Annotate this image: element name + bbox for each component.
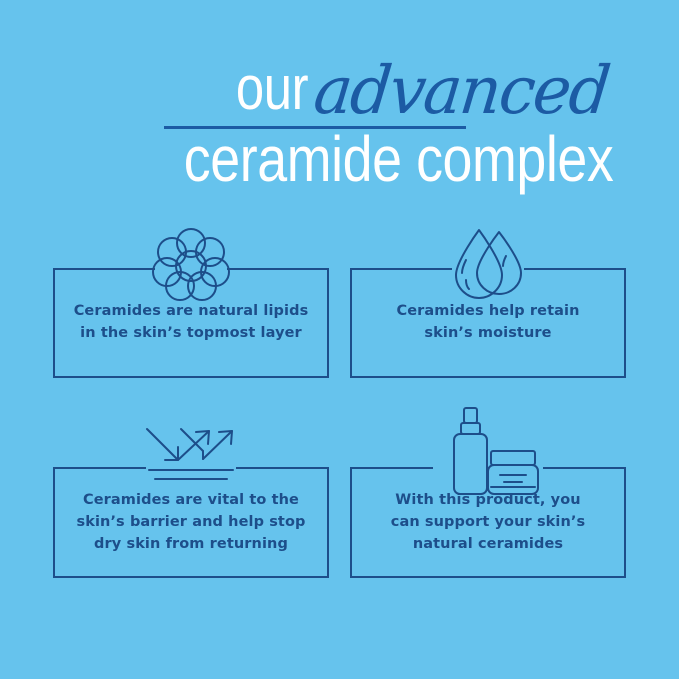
title-word-our: our bbox=[236, 53, 308, 124]
card-top-notch bbox=[146, 466, 236, 472]
fact-card-text: Ceramides are natural lipids in the skin… bbox=[55, 300, 327, 344]
fact-line: natural ceramides bbox=[352, 533, 624, 555]
fact-card-moisture: Ceramides help retain skin’s moisture bbox=[350, 268, 626, 378]
fact-card-text: Ceramides help retain skin’s moisture bbox=[352, 300, 624, 344]
fact-line: skin’s moisture bbox=[352, 322, 624, 344]
fact-card-product: With this product, you can support your … bbox=[350, 467, 626, 578]
fact-line: dry skin from returning bbox=[55, 533, 327, 555]
page-title: ouradvanced ceramide complex bbox=[0, 48, 679, 208]
fact-card-barrier: Ceramides are vital to the skin’s barrie… bbox=[53, 467, 329, 578]
fact-line: skin’s barrier and help stop bbox=[55, 511, 327, 533]
card-top-notch bbox=[155, 267, 227, 273]
fact-line: With this product, you bbox=[352, 489, 624, 511]
fact-line: Ceramides are vital to the bbox=[55, 489, 327, 511]
title-line-1: ouradvanced bbox=[0, 48, 613, 125]
barrier-deflect-arrows-icon bbox=[137, 419, 245, 496]
title-word-advanced-script: advanced bbox=[310, 52, 612, 129]
fact-line: Ceramides help retain bbox=[352, 300, 624, 322]
fact-card-text: With this product, you can support your … bbox=[352, 489, 624, 555]
ceramide-infographic-poster: ouradvanced ceramide complex Ceramides a… bbox=[0, 0, 679, 679]
card-top-notch bbox=[433, 466, 543, 472]
fact-line: in the skin’s topmost layer bbox=[55, 322, 327, 344]
fact-line: can support your skin’s bbox=[352, 511, 624, 533]
fact-card-text: Ceramides are vital to the skin’s barrie… bbox=[55, 489, 327, 555]
title-line-2: ceramide complex bbox=[0, 122, 613, 196]
fact-line: Ceramides are natural lipids bbox=[55, 300, 327, 322]
card-top-notch bbox=[452, 267, 524, 273]
fact-card-lipids: Ceramides are natural lipids in the skin… bbox=[53, 268, 329, 378]
title-word-ceramide-complex: ceramide complex bbox=[183, 122, 613, 196]
